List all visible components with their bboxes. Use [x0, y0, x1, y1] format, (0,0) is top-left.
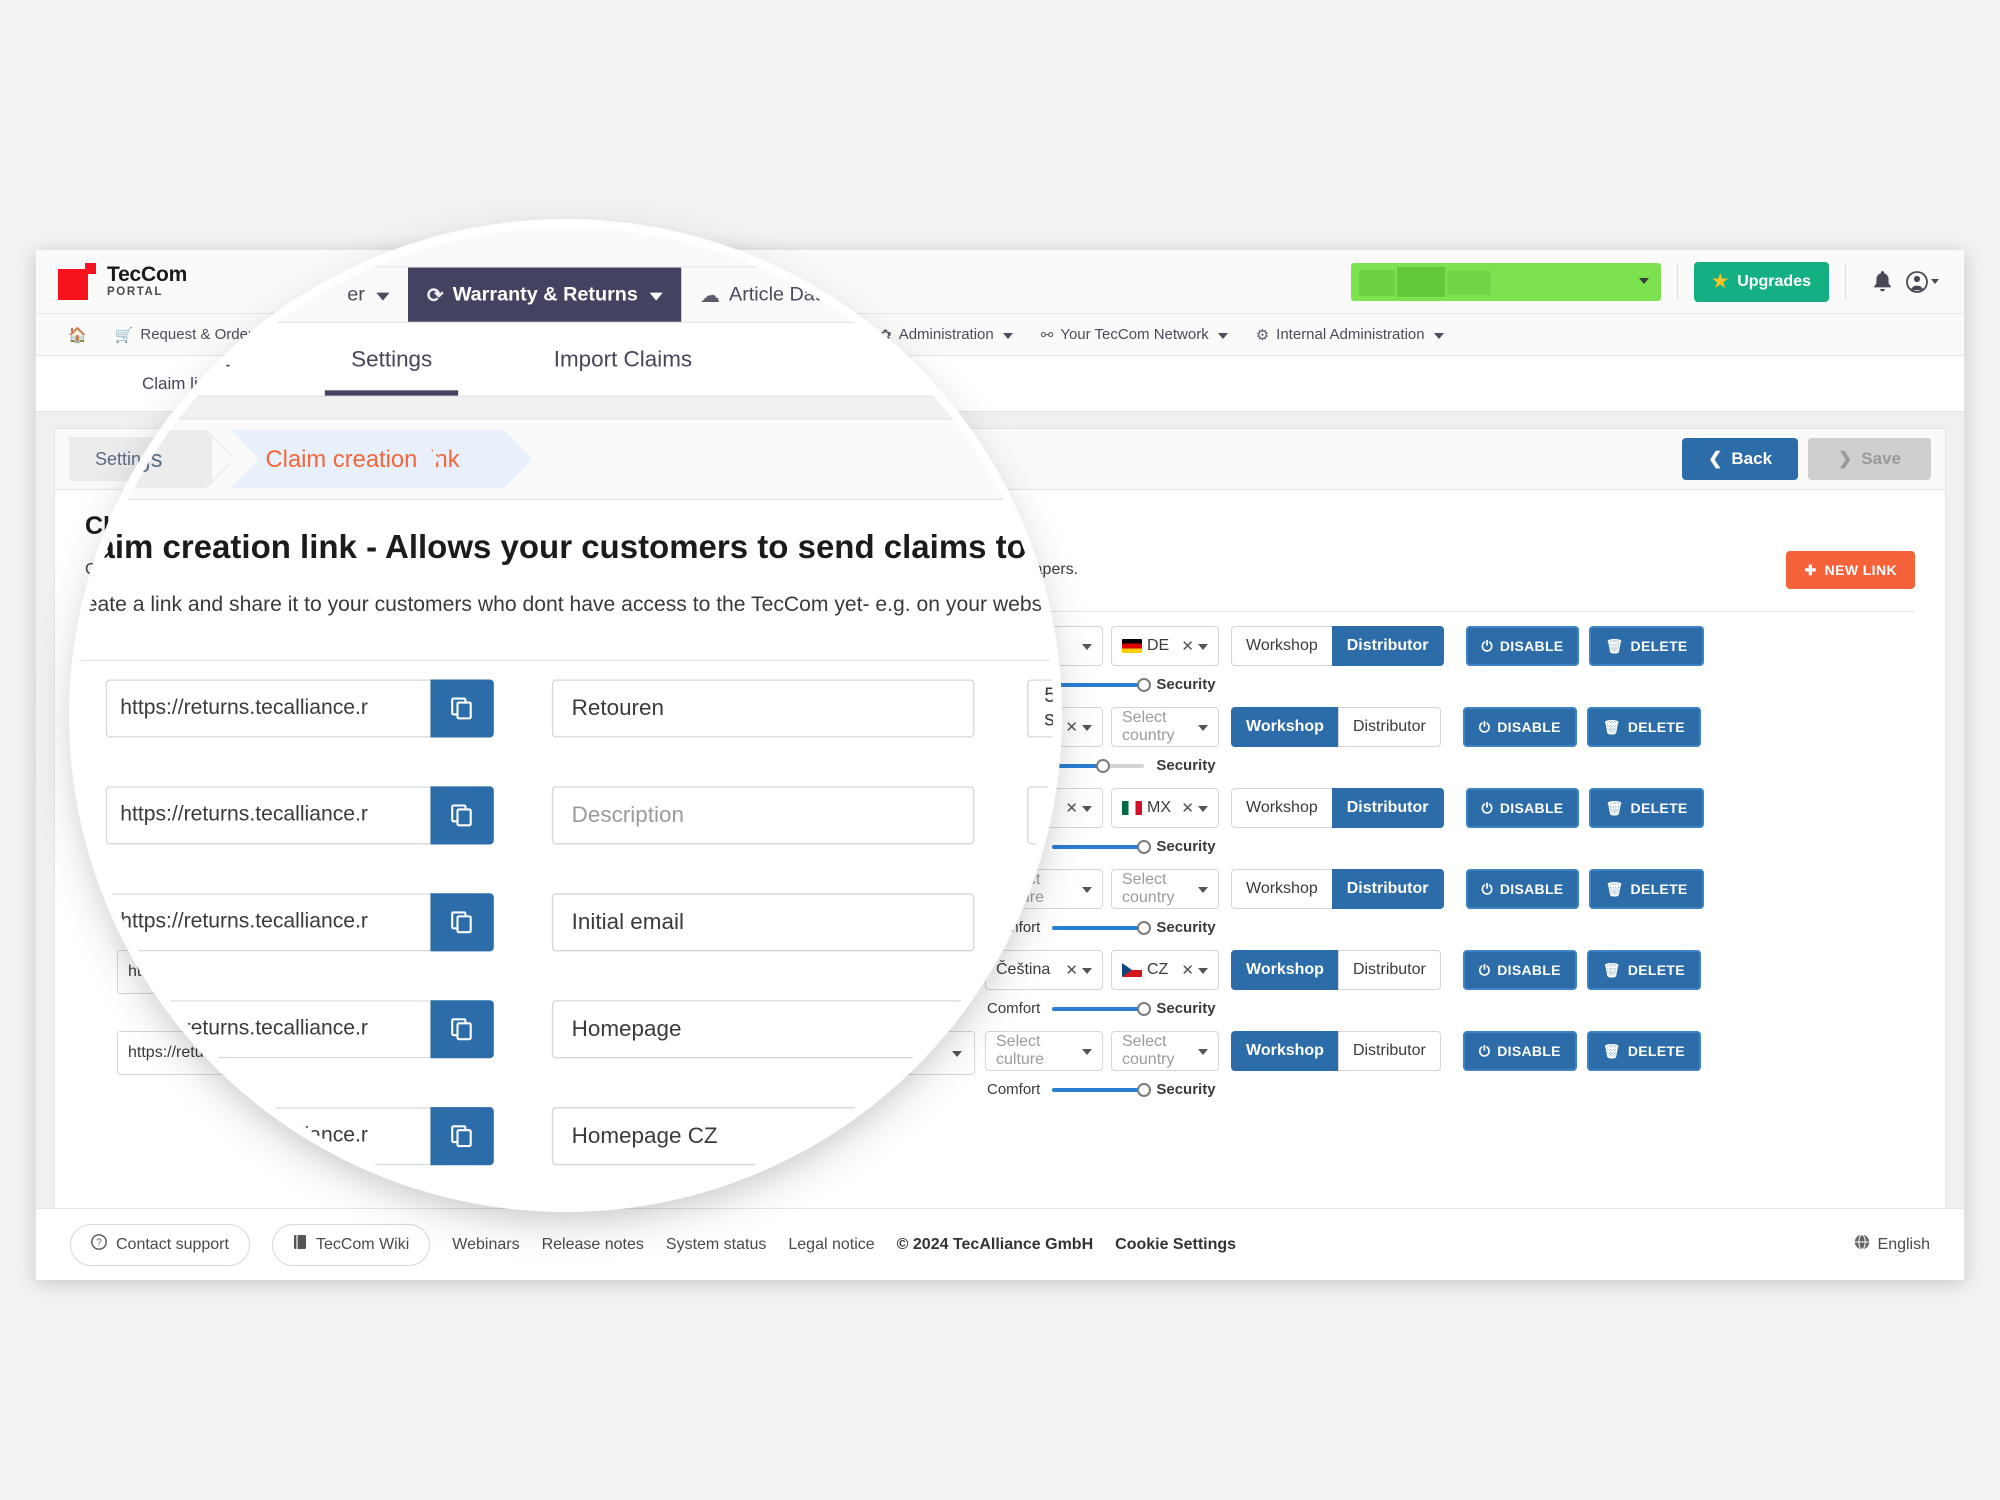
plus-icon: ✚: [1804, 562, 1816, 579]
claim-link-row: 11 flow types selectedEnglish✕Select cou…: [85, 707, 1915, 774]
row-controls-top: Select cultureSelect countryWorkshopDist…: [985, 1031, 1701, 1071]
delete-button[interactable]: 🗑DELETE: [1589, 788, 1703, 828]
nav-label: Your TecCom Network: [1060, 326, 1208, 343]
power-icon: ⏻: [1479, 962, 1490, 979]
comfort-label: Comfort: [987, 676, 1040, 693]
row-controls-top: English✕Select countryWorkshopDistributo…: [985, 707, 1701, 747]
app-footer: ? Contact support TecCom Wiki Webinars R…: [36, 1208, 1964, 1280]
nav-label: hts: [695, 326, 715, 343]
role-option-workshop[interactable]: Workshop: [1231, 950, 1338, 990]
slider-track[interactable]: [1052, 683, 1144, 687]
culture-value: Italiano: [996, 799, 1048, 817]
chevron-down-icon: [529, 333, 539, 339]
upgrades-label: Upgrades: [1737, 273, 1811, 291]
cloud-icon: ☁: [567, 326, 582, 344]
clear-culture-icon[interactable]: ✕: [1065, 718, 1078, 736]
country-select[interactable]: DE✕: [1111, 626, 1219, 666]
returns-icon: ⟳: [360, 326, 373, 344]
slider-knob[interactable]: [1137, 1083, 1151, 1097]
slider-knob[interactable]: [1137, 840, 1151, 854]
footer-link-system-status[interactable]: System status: [666, 1236, 766, 1254]
delete-button[interactable]: 🗑DELETE: [1587, 707, 1701, 747]
claim-link-description-input[interactable]: [455, 950, 775, 994]
slider-knob[interactable]: [1137, 1002, 1151, 1016]
delete-label: DELETE: [1628, 719, 1685, 735]
flow-types-select[interactable]: 6 flow types selected: [815, 950, 975, 994]
disable-button[interactable]: ⏻DISABLE: [1466, 869, 1580, 909]
chevron-down-icon: [952, 1051, 962, 1057]
slider-fill: [1052, 845, 1144, 849]
culture-select[interactable]: Select culture: [985, 626, 1103, 666]
trash-icon: 🗑: [1603, 962, 1621, 979]
claim-link-description-input[interactable]: [455, 626, 775, 670]
page-body: Settings Claim creation link ❮ Back ❯ Sa…: [36, 412, 1964, 1280]
delete-button[interactable]: 🗑DELETE: [1589, 869, 1703, 909]
role-toggle: WorkshopDistributor: [1231, 1031, 1441, 1071]
nav-label: Internal Administration: [1276, 326, 1424, 343]
chevron-down-icon: [952, 646, 962, 652]
help-icon: ?: [91, 1234, 107, 1255]
claim-link-row: 5 flow types selectedSelect cultureSelec…: [85, 1031, 1915, 1098]
url-group: [117, 788, 411, 832]
comfort-label: Comfort: [987, 1081, 1040, 1098]
country-select[interactable]: MX✕: [1111, 788, 1219, 828]
delete-button[interactable]: 🗑DELETE: [1587, 1031, 1701, 1071]
slider-knob[interactable]: [1096, 759, 1110, 773]
country-value: Select country: [1122, 1033, 1208, 1069]
star-icon: ★: [1712, 271, 1728, 292]
svg-text:?: ?: [96, 1238, 102, 1249]
chevron-right-icon: ❯: [1838, 449, 1852, 469]
nav-label: Administration: [899, 326, 994, 343]
footer-link-release-notes[interactable]: Release notes: [542, 1236, 644, 1254]
chevron-down-icon: [724, 333, 734, 339]
disable-button[interactable]: ⏻DISABLE: [1463, 1031, 1577, 1071]
country-select[interactable]: CZ✕: [1111, 950, 1219, 990]
culture-select[interactable]: English✕: [985, 707, 1103, 747]
delete-label: DELETE: [1628, 962, 1685, 978]
disable-button[interactable]: ⏻DISABLE: [1466, 626, 1580, 666]
claim-link-url-input[interactable]: [117, 950, 363, 994]
comfort-label: Comfort: [987, 757, 1040, 774]
disable-label: DISABLE: [1500, 638, 1564, 654]
copy-icon[interactable]: [363, 707, 411, 751]
flow-types-value: 11 flow types selected: [828, 711, 962, 747]
chevron-down-icon: [1003, 333, 1013, 339]
claim-link-row: 6 flow types selectedČeština✕CZ✕Workshop…: [85, 950, 1915, 1017]
culture-select[interactable]: Select culture: [985, 869, 1103, 909]
chevron-down-icon: [1082, 968, 1092, 974]
role-option-distributor[interactable]: Distributor: [1332, 869, 1444, 909]
role-toggle: WorkshopDistributor: [1231, 626, 1444, 666]
claim-link-url-input[interactable]: [117, 869, 363, 913]
flow-types-select[interactable]: 5 flow types selected: [815, 626, 975, 670]
chevron-down-icon: [1198, 968, 1208, 974]
footer-copyright: © 2024 TecAlliance GmbH: [897, 1236, 1093, 1254]
url-group: [117, 950, 411, 994]
country-flag-icon: [1122, 639, 1142, 653]
claim-link-url-input[interactable]: [117, 707, 363, 751]
delete-label: DELETE: [1631, 800, 1688, 816]
clear-country-icon[interactable]: ✕: [1181, 637, 1194, 655]
security-label: Security: [1156, 676, 1215, 693]
comfort-security-slider[interactable]: ComfortSecurity: [985, 1000, 1701, 1017]
row-controls: Select cultureSelect countryWorkshopDist…: [985, 1031, 1701, 1098]
flow-types-value: 5 flow types selected: [828, 1035, 962, 1071]
teccom-wiki-label: TecCom Wiki: [316, 1236, 409, 1254]
country-value: MX: [1147, 799, 1171, 817]
flow-types-value: 5 flow types selected: [828, 873, 962, 909]
book-icon: [293, 1234, 307, 1255]
comfort-security-slider[interactable]: ComfortSecurity: [985, 919, 1704, 936]
flow-types-select[interactable]: 5 flow types selected: [815, 1031, 975, 1075]
app-header: TecCom PORTAL ★ Upgrades: [36, 250, 1964, 314]
role-toggle: WorkshopDistributor: [1231, 707, 1441, 747]
footer-link-cookie-settings[interactable]: Cookie Settings: [1115, 1236, 1236, 1254]
copy-icon[interactable]: [363, 1031, 411, 1075]
role-option-distributor[interactable]: Distributor: [1332, 788, 1444, 828]
logo-secondary-text: PORTAL: [107, 286, 187, 298]
flow-types-value: 6 flow types selected: [828, 954, 962, 990]
new-link-button[interactable]: ✚ NEW LINK: [1786, 551, 1915, 589]
chevron-down-icon: [1198, 725, 1208, 731]
country-value: CZ: [1147, 961, 1168, 979]
slider-fill: [1052, 926, 1144, 930]
slider-track[interactable]: [1052, 1007, 1144, 1011]
trash-icon: 🗑: [1605, 800, 1623, 817]
copy-icon[interactable]: [363, 788, 411, 832]
culture-value: Čeština: [996, 961, 1050, 979]
chevron-down-icon: [952, 970, 962, 976]
new-link-label: NEW LINK: [1825, 562, 1897, 578]
slider-track[interactable]: [1052, 1088, 1144, 1092]
comfort-security-slider[interactable]: ComfortSecurity: [985, 676, 1704, 693]
culture-select[interactable]: Čeština✕: [985, 950, 1103, 990]
role-toggle: WorkshopDistributor: [1231, 788, 1444, 828]
role-option-distributor[interactable]: Distributor: [1338, 950, 1441, 990]
nav-label: Journal: [783, 326, 832, 343]
breadcrumb-item-claim-creation-link[interactable]: Claim creation link: [212, 437, 419, 481]
delete-button[interactable]: 🗑DELETE: [1589, 626, 1703, 666]
disable-label: DISABLE: [1497, 962, 1561, 978]
nav-item-administration[interactable]: ✿ Administration: [865, 314, 1027, 355]
trash-icon: 🗑: [1603, 719, 1621, 736]
grid-icon: ▦: [762, 326, 776, 344]
clear-country-icon[interactable]: ✕: [1181, 799, 1194, 817]
link-icon: ⚯: [1041, 326, 1054, 344]
role-option-distributor[interactable]: Distributor: [1338, 707, 1441, 747]
copy-icon[interactable]: [363, 950, 411, 994]
disable-label: DISABLE: [1500, 800, 1564, 816]
flow-types-select[interactable]: 10 flow types selected: [815, 788, 975, 832]
url-group: [117, 626, 411, 670]
country-flag-icon: [1122, 801, 1142, 815]
bell-icon[interactable]: [1862, 262, 1902, 302]
footer-link-webinars[interactable]: Webinars: [452, 1236, 519, 1254]
user-account-menu[interactable]: [1902, 262, 1942, 302]
flow-types-value: 5 flow types selected: [828, 630, 962, 666]
cart-icon: 🛒: [115, 326, 134, 344]
tab-import-claims[interactable]: Import Claims: [410, 356, 607, 411]
comfort-security-slider[interactable]: ComfortSecurity: [985, 838, 1704, 855]
chevron-down-icon: [262, 333, 272, 339]
chevron-down-icon: [1198, 806, 1208, 812]
culture-value: Select culture: [996, 871, 1092, 907]
row-controls: Select cultureSelect countryWorkshopDist…: [985, 869, 1704, 936]
logo-primary-text: TecCom: [107, 264, 187, 286]
role-toggle: WorkshopDistributor: [1231, 869, 1444, 909]
language-label: English: [1878, 1236, 1930, 1254]
disable-label: DISABLE: [1500, 881, 1564, 897]
delete-label: DELETE: [1631, 881, 1688, 897]
contact-support-label: Contact support: [116, 1236, 229, 1254]
nav-item-journal[interactable]: ▦ Journal: [748, 314, 865, 355]
claim-link-description-input[interactable]: [455, 788, 775, 832]
culture-select[interactable]: Select culture: [985, 1031, 1103, 1071]
chevron-down-icon: [1931, 279, 1939, 284]
slider-knob[interactable]: [1137, 921, 1151, 935]
comfort-label: Comfort: [987, 838, 1040, 855]
row-actions: ⏻DISABLE🗑DELETE: [1463, 1031, 1701, 1071]
nav-item-internal-administration[interactable]: ⚙ Internal Administration: [1242, 314, 1458, 355]
slider-track[interactable]: [1052, 764, 1144, 768]
claim-link-row: 5 flow types selectedSelect cultureSelec…: [85, 869, 1915, 936]
row-actions: ⏻DISABLE🗑DELETE: [1463, 950, 1701, 990]
row-actions: ⏻DISABLE🗑DELETE: [1466, 626, 1704, 666]
back-label: Back: [1731, 449, 1772, 469]
power-icon: ⏻: [1482, 638, 1493, 655]
row-actions: ⏻DISABLE🗑DELETE: [1466, 869, 1704, 909]
copy-icon[interactable]: [363, 869, 411, 913]
nav-item-article-data[interactable]: ☁ Article Data: [553, 314, 681, 355]
role-option-distributor[interactable]: Distributor: [1338, 1031, 1441, 1071]
sub-tabs: Claim list Settings Import Claims: [36, 356, 1964, 412]
security-label: Security: [1156, 919, 1215, 936]
chevron-down-icon: [1434, 333, 1444, 339]
claim-link-row: 5 flow types selectedSelect cultureDE✕Wo…: [85, 626, 1915, 693]
slider-track[interactable]: [1052, 926, 1144, 930]
security-label: Security: [1156, 838, 1215, 855]
trash-icon: 🗑: [1603, 1043, 1621, 1060]
clear-culture-icon[interactable]: ✕: [1065, 961, 1078, 979]
tab-claim-list[interactable]: Claim list: [96, 356, 257, 411]
disable-button[interactable]: ⏻DISABLE: [1466, 788, 1580, 828]
footer-link-legal-notice[interactable]: Legal notice: [788, 1236, 874, 1254]
chevron-down-icon: [952, 889, 962, 895]
comfort-label: Comfort: [987, 1000, 1040, 1017]
comfort-label: Comfort: [987, 919, 1040, 936]
claim-link-description-input[interactable]: [455, 707, 775, 751]
chevron-down-icon: [1082, 1049, 1092, 1055]
slider-fill: [1052, 1007, 1144, 1011]
slider-track[interactable]: [1052, 845, 1144, 849]
clear-country-icon[interactable]: ✕: [1181, 961, 1194, 979]
slider-knob[interactable]: [1137, 678, 1151, 692]
role-option-workshop[interactable]: Workshop: [1231, 788, 1332, 828]
row-actions: ⏻DISABLE🗑DELETE: [1463, 707, 1701, 747]
row-controls-top: Čeština✕CZ✕WorkshopDistributor⏻DISABLE🗑D…: [985, 950, 1701, 990]
save-label: Save: [1861, 449, 1901, 469]
trash-icon: 🗑: [1605, 638, 1623, 655]
country-value: Select country: [1122, 871, 1208, 907]
disable-label: DISABLE: [1497, 1043, 1561, 1059]
row-controls-top: Italiano✕MX✕WorkshopDistributor⏻DISABLE🗑…: [985, 788, 1704, 828]
role-toggle: WorkshopDistributor: [1231, 950, 1441, 990]
role-option-workshop[interactable]: Workshop: [1231, 707, 1338, 747]
copy-icon[interactable]: [363, 626, 411, 670]
url-group: [117, 707, 411, 751]
logo: TecCom PORTAL: [58, 263, 187, 301]
power-icon: ⏻: [1479, 719, 1490, 736]
breadcrumb-item-settings[interactable]: Settings: [69, 437, 194, 481]
page-subtitle: Create a link and share it to your custo…: [85, 561, 1078, 579]
nav-label: er: [300, 326, 313, 343]
claim-link-url-input[interactable]: [117, 1031, 363, 1075]
nav-item-your-teccom-network[interactable]: ⚯ Your TecCom Network: [1027, 314, 1242, 355]
claim-link-rows: 5 flow types selectedSelect cultureDE✕Wo…: [85, 612, 1915, 1098]
chevron-down-icon: [1082, 644, 1092, 650]
row-controls-top: Select cultureSelect countryWorkshopDist…: [985, 869, 1704, 909]
nav-item-partial-hts[interactable]: hts: [681, 314, 748, 355]
chevron-left-icon: ❮: [1708, 449, 1722, 469]
clear-culture-icon[interactable]: ✕: [1065, 799, 1078, 817]
nav-label: Article Data: [589, 326, 667, 343]
teccom-logo-icon: [58, 263, 96, 301]
chevron-down-icon: [1198, 644, 1208, 650]
home-icon: 🏠: [68, 326, 87, 344]
back-button[interactable]: ❮ Back: [1682, 438, 1798, 480]
claim-link-description-input[interactable]: [455, 869, 775, 913]
main-navigation: 🏠 🛒 Request & Order er ⟳ Warranty & Retu…: [36, 314, 1964, 356]
tab-settings[interactable]: Settings: [257, 356, 410, 411]
row-controls: Select cultureDE✕WorkshopDistributor⏻DIS…: [985, 626, 1704, 693]
chevron-down-icon: [1082, 806, 1092, 812]
header-divider: [1677, 264, 1678, 300]
chevron-down-icon: [841, 333, 851, 339]
row-actions: ⏻DISABLE🗑DELETE: [1466, 788, 1704, 828]
flow-types-value: 10 flow types selected: [828, 792, 962, 828]
disable-button[interactable]: ⏻DISABLE: [1463, 707, 1577, 747]
culture-value: Select culture: [996, 628, 1092, 664]
application-window: TecCom PORTAL ★ Upgrades: [36, 250, 1964, 1280]
row-controls: Italiano✕MX✕WorkshopDistributor⏻DISABLE🗑…: [985, 788, 1704, 855]
gears-icon: ⚙: [1256, 326, 1269, 344]
breadcrumb: Settings Claim creation link ❮ Back ❯ Sa…: [54, 428, 1946, 490]
disable-label: DISABLE: [1497, 719, 1561, 735]
chevron-down-icon: [1082, 887, 1092, 893]
url-group: [117, 1031, 411, 1075]
settings-panel: Claim creation link - Allows your custom…: [54, 490, 1946, 1274]
disable-button[interactable]: ⏻DISABLE: [1463, 950, 1577, 990]
nav-item-request-order[interactable]: 🛒 Request & Order: [101, 314, 286, 355]
role-option-workshop[interactable]: Workshop: [1231, 1031, 1338, 1071]
security-label: Security: [1156, 1081, 1215, 1098]
power-icon: ⏻: [1482, 881, 1493, 898]
country-flag-icon: [1122, 963, 1142, 977]
chevron-down-icon: [952, 808, 962, 814]
teccom-wiki-button[interactable]: TecCom Wiki: [272, 1224, 430, 1266]
claim-link-url-input[interactable]: [117, 788, 363, 832]
nav-item-warranty-returns[interactable]: ⟳ Warranty & Returns: [346, 314, 553, 355]
country-select[interactable]: Select country: [1111, 707, 1219, 747]
nav-item-home[interactable]: 🏠: [54, 314, 101, 355]
security-label: Security: [1156, 757, 1215, 774]
nav-label: Request & Order: [140, 326, 253, 343]
chevron-down-icon: [1218, 333, 1228, 339]
claim-link-description-input[interactable]: [455, 1031, 775, 1075]
row-controls-top: Select cultureDE✕WorkshopDistributor⏻DIS…: [985, 626, 1704, 666]
claim-link-row: 10 flow types selectedItaliano✕MX✕Worksh…: [85, 788, 1915, 855]
delete-label: DELETE: [1628, 1043, 1685, 1059]
culture-value: Select culture: [996, 1033, 1092, 1069]
chevron-down-icon: [952, 727, 962, 733]
country-select[interactable]: Select country: [1111, 869, 1219, 909]
tab-label: Import Claims: [456, 374, 561, 394]
trash-icon: 🗑: [1605, 881, 1623, 898]
country-select[interactable]: Select country: [1111, 1031, 1219, 1071]
country-value: Select country: [1122, 709, 1208, 745]
chevron-down-icon: [1082, 725, 1092, 731]
gear-icon: ✿: [879, 326, 892, 344]
culture-select[interactable]: Italiano✕: [985, 788, 1103, 828]
chevron-down-icon: [1198, 887, 1208, 893]
organization-selector[interactable]: [1351, 263, 1661, 301]
role-option-workshop[interactable]: Workshop: [1231, 869, 1332, 909]
comfort-security-slider[interactable]: ComfortSecurity: [985, 757, 1701, 774]
chevron-down-icon: [1198, 1049, 1208, 1055]
culture-value: English: [996, 718, 1048, 736]
row-controls: Čeština✕CZ✕WorkshopDistributor⏻DISABLE🗑D…: [985, 950, 1701, 1017]
upgrades-button[interactable]: ★ Upgrades: [1694, 262, 1829, 302]
breadcrumb-label: Claim creation link: [238, 449, 385, 470]
contact-support-button[interactable]: ? Contact support: [70, 1224, 250, 1266]
tab-label: Claim list: [142, 374, 211, 394]
comfort-security-slider[interactable]: ComfortSecurity: [985, 1081, 1701, 1098]
slider-fill: [1052, 683, 1144, 687]
chevron-down-icon: [1639, 278, 1649, 284]
role-option-distributor[interactable]: Distributor: [1332, 626, 1444, 666]
claim-link-url-input[interactable]: [117, 626, 363, 670]
flow-types-select[interactable]: 11 flow types selected: [815, 707, 975, 751]
url-group: [117, 869, 411, 913]
flow-types-select[interactable]: 5 flow types selected: [815, 869, 975, 913]
header-divider-2: [1845, 264, 1846, 300]
nav-label: Warranty & Returns: [380, 326, 520, 343]
nav-item-partial-er[interactable]: er: [286, 314, 346, 355]
breadcrumb-label: Settings: [95, 449, 160, 470]
delete-label: DELETE: [1631, 638, 1688, 654]
country-value: DE: [1147, 637, 1169, 655]
language-selector[interactable]: English: [1854, 1234, 1930, 1255]
role-option-workshop[interactable]: Workshop: [1231, 626, 1332, 666]
tab-label: Settings: [303, 374, 364, 394]
row-controls: English✕Select countryWorkshopDistributo…: [985, 707, 1701, 774]
save-button[interactable]: ❯ Save: [1808, 438, 1931, 480]
delete-button[interactable]: 🗑DELETE: [1587, 950, 1701, 990]
slider-fill: [1052, 1088, 1144, 1092]
power-icon: ⏻: [1479, 1043, 1490, 1060]
globe-icon: [1854, 1234, 1870, 1255]
page-title: Claim creation link - Allows your custom…: [85, 512, 1915, 541]
security-label: Security: [1156, 1000, 1215, 1017]
power-icon: ⏻: [1482, 800, 1493, 817]
chevron-down-icon: [322, 333, 332, 339]
